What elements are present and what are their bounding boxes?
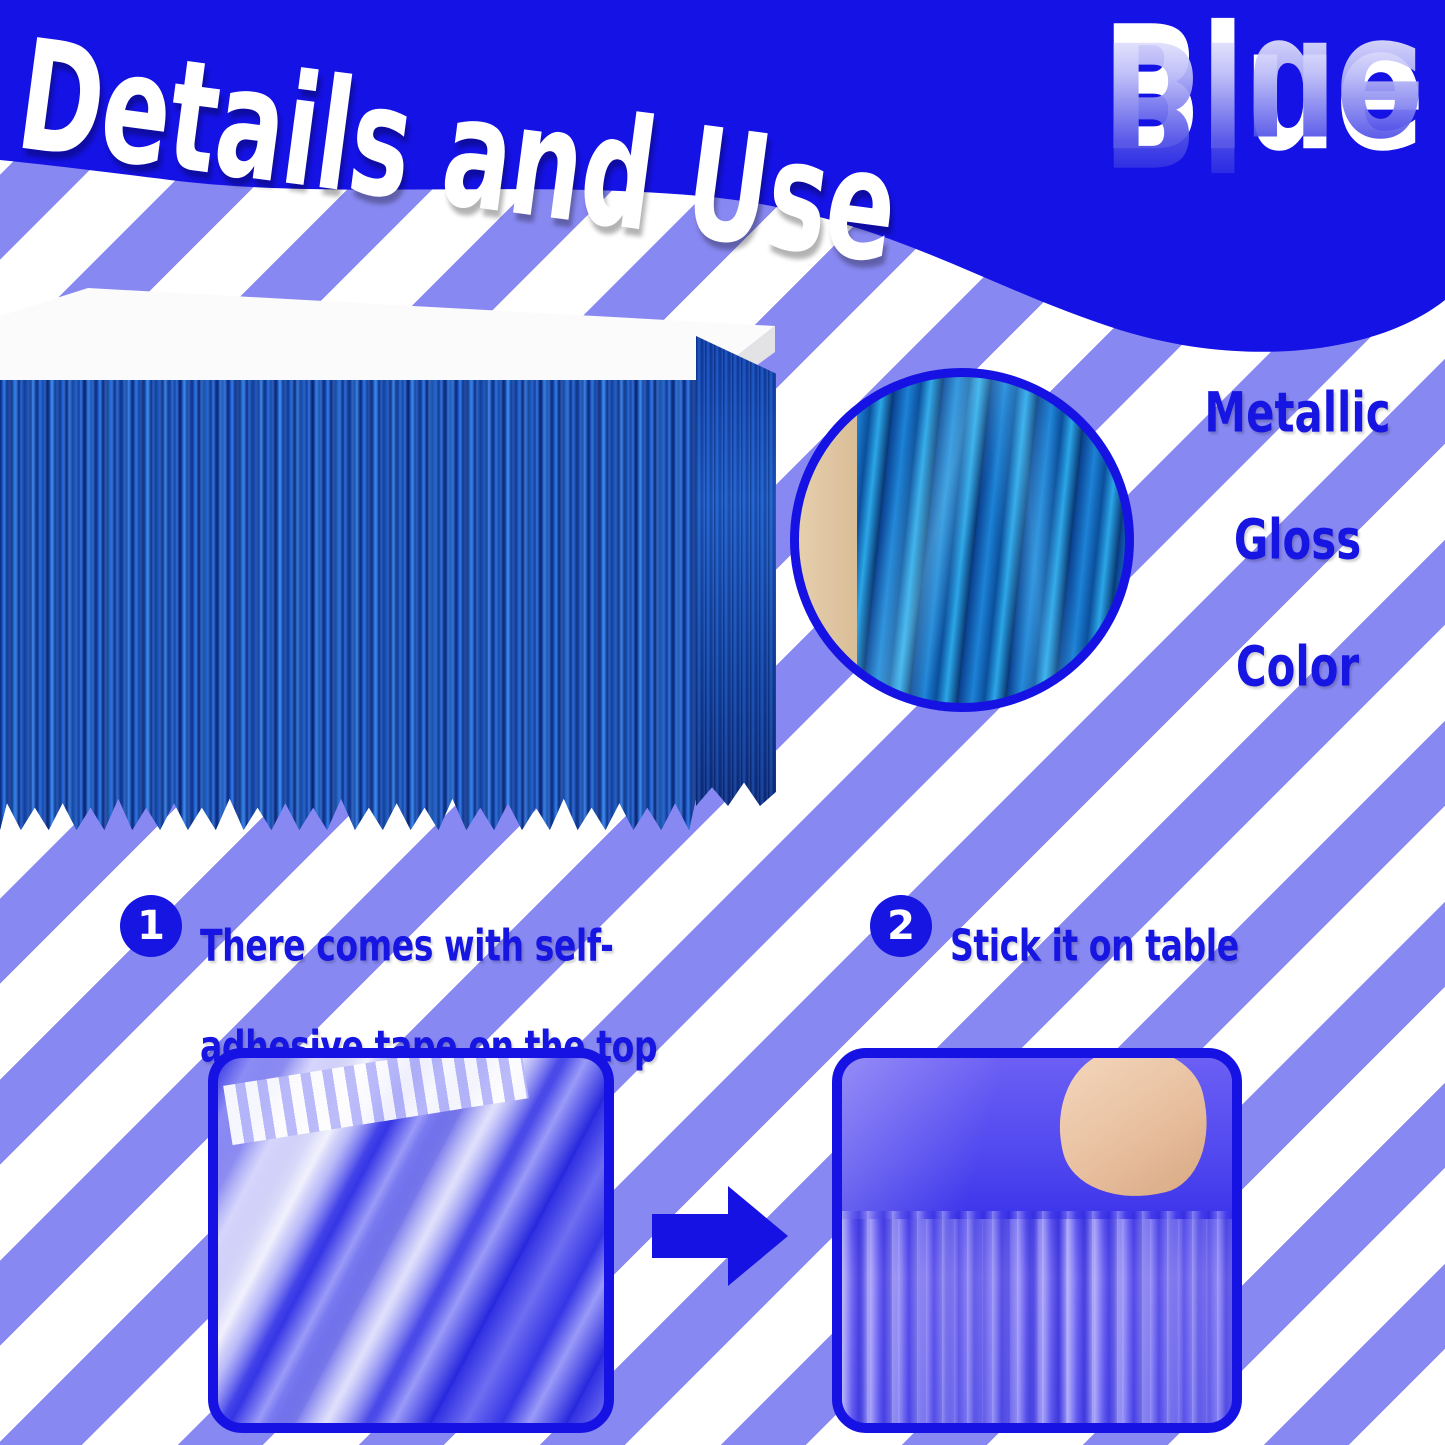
step-1-number-badge: 1 — [120, 895, 182, 957]
step-2-text: Stick it on table — [950, 897, 1373, 998]
foil-fringe-skirt-front — [0, 380, 696, 830]
hand-applying-skirt-photo — [832, 1048, 1242, 1433]
feature-color: Color — [1170, 639, 1426, 694]
arrow-right-glyph — [652, 1180, 788, 1292]
foil-fringe-strands — [842, 1211, 1232, 1423]
metallic-closeup-circle-photo — [790, 368, 1134, 712]
foil-sheen-overlay — [799, 377, 1125, 703]
foil-fringe-skirt-side — [696, 336, 776, 806]
right-arrow-icon — [652, 1180, 788, 1292]
adhesive-tape-photo — [208, 1048, 614, 1433]
feature-metallic: Metallic — [1170, 385, 1426, 440]
feature-list: Metallic Gloss Color — [1160, 385, 1435, 766]
feature-gloss: Gloss — [1170, 512, 1426, 567]
hero-product-photo — [0, 288, 775, 848]
step-2-number-badge: 2 — [870, 895, 932, 957]
product-infographic: Details and Use Blue Blue Metallic Gloss… — [0, 0, 1445, 1445]
fringe-edge-detail — [223, 1048, 529, 1145]
